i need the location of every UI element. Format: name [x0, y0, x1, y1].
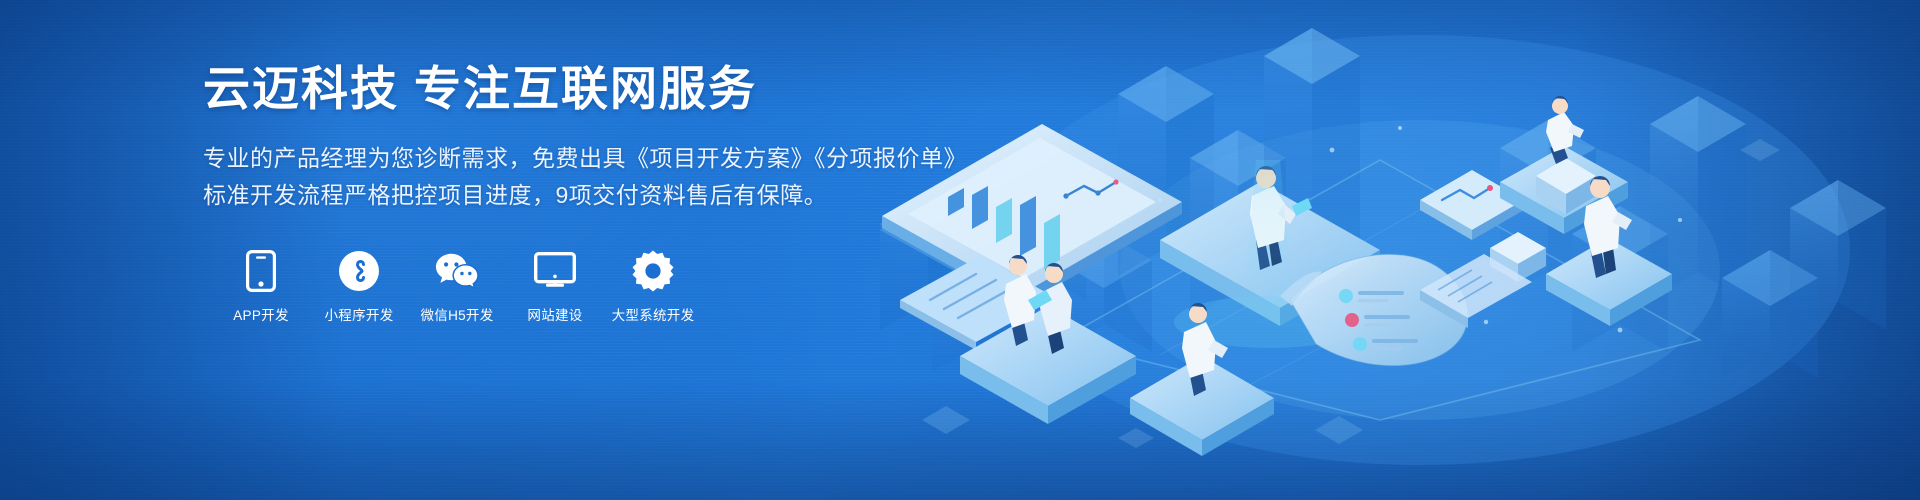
isometric-illustration [860, 0, 1920, 500]
banner-headline: 云迈科技 专注互联网服务 [203, 62, 923, 116]
banner-subline-1: 专业的产品经理为您诊断需求，免费出具《项目开发方案》《分项报价单》 [203, 140, 923, 177]
service-label-app: APP开发 [233, 304, 289, 324]
mini-program-icon [337, 249, 381, 293]
service-item-app[interactable]: APP开发 [225, 249, 297, 324]
gear-icon [631, 249, 675, 293]
service-label-wechat-h5: 微信H5开发 [420, 304, 493, 324]
service-item-wechat-h5[interactable]: 微信H5开发 [421, 249, 493, 324]
service-item-mini-program[interactable]: 小程序开发 [323, 249, 395, 324]
service-item-website[interactable]: 网站建设 [519, 249, 591, 324]
mobile-phone-icon [239, 249, 283, 293]
banner-content: 云迈科技 专注互联网服务 专业的产品经理为您诊断需求，免费出具《项目开发方案》《… [203, 62, 923, 324]
banner-sublines: 专业的产品经理为您诊断需求，免费出具《项目开发方案》《分项报价单》 标准开发流程… [203, 140, 923, 215]
banner-subline-2: 标准开发流程严格把控项目进度，9项交付资料售后有保障。 [203, 177, 923, 214]
wechat-icon [435, 249, 479, 293]
service-label-large-system: 大型系统开发 [612, 304, 695, 324]
service-list: APP开发 小程序开发 [203, 249, 923, 324]
service-label-mini-program: 小程序开发 [325, 304, 394, 324]
service-item-large-system[interactable]: 大型系统开发 [617, 249, 689, 324]
monitor-icon [533, 249, 577, 293]
service-label-website: 网站建设 [527, 304, 582, 324]
hero-banner: 云迈科技 专注互联网服务 专业的产品经理为您诊断需求，免费出具《项目开发方案》《… [0, 0, 1920, 500]
